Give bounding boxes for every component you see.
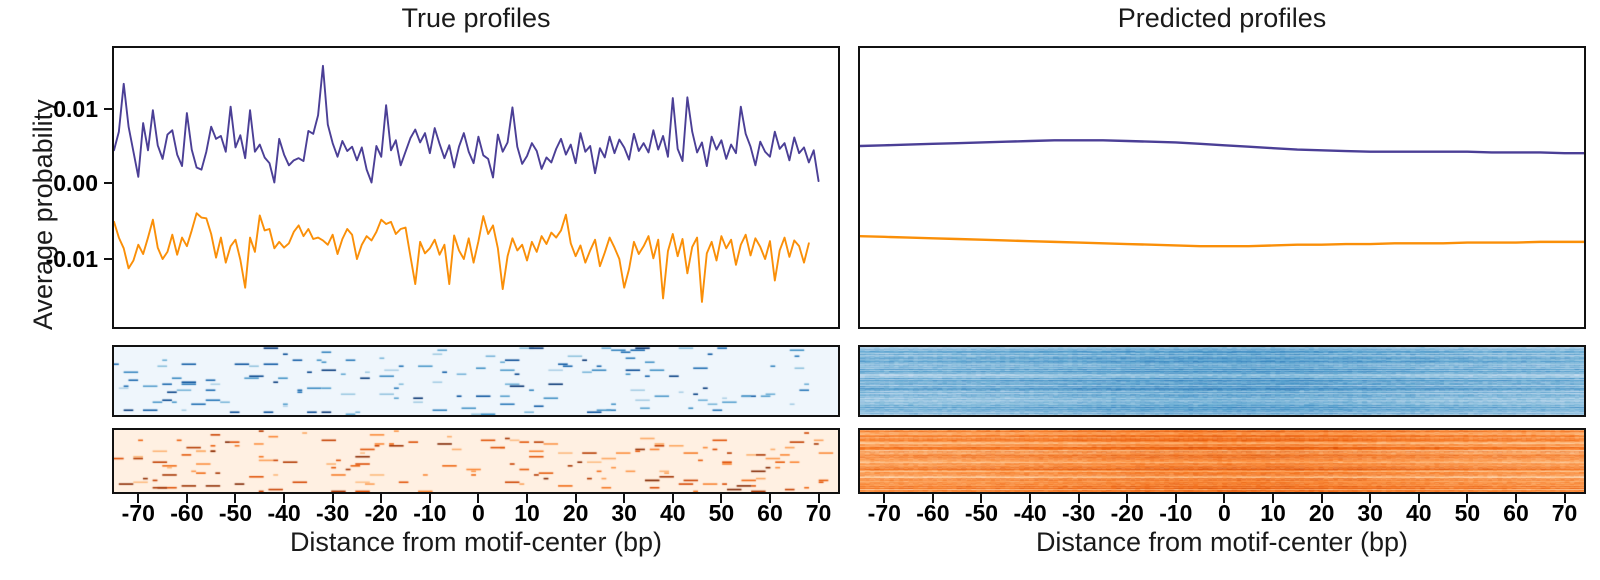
x-tick-label-predicted-14: 70	[1525, 500, 1600, 527]
true-negative-heatmap	[112, 428, 840, 494]
predicted-positive-heatmap	[858, 345, 1586, 417]
true-positive-heatmap	[112, 345, 840, 417]
true-profiles-lines	[114, 48, 838, 327]
predicted-positive-heatmap-canvas	[860, 347, 1584, 415]
predicted-negative-heatmap-canvas	[860, 430, 1584, 492]
predicted-profiles-plot	[858, 46, 1586, 329]
y-tick-mark-1	[104, 182, 113, 184]
y-axis-label: Average probability	[28, 99, 59, 330]
predicted-positive-strand-path	[860, 140, 1584, 153]
figure-canvas: True profiles Predicted profiles Average…	[0, 0, 1600, 580]
y-tick-label-1: 0.00	[0, 170, 98, 197]
true-profiles-plot	[112, 46, 840, 329]
predicted-negative-heatmap	[858, 428, 1586, 494]
predicted-profiles-lines	[860, 48, 1584, 327]
y-tick-mark-0	[104, 108, 113, 110]
y-tick-label-2: -0.01	[0, 246, 98, 273]
true-negative-heatmap-canvas	[114, 430, 838, 492]
true-positive-strand-path	[114, 66, 819, 183]
panel-title-predicted: Predicted profiles	[858, 3, 1586, 34]
y-tick-label-0: 0.01	[0, 96, 98, 123]
true-negative-strand-path	[114, 213, 809, 302]
true-positive-heatmap-canvas	[114, 347, 838, 415]
predicted-negative-strand-path	[860, 236, 1584, 246]
y-tick-mark-2	[104, 258, 113, 260]
x-axis-label-true: Distance from motif-center (bp)	[112, 527, 840, 558]
x-axis-label-predicted: Distance from motif-center (bp)	[858, 527, 1586, 558]
panel-title-true: True profiles	[112, 3, 840, 34]
